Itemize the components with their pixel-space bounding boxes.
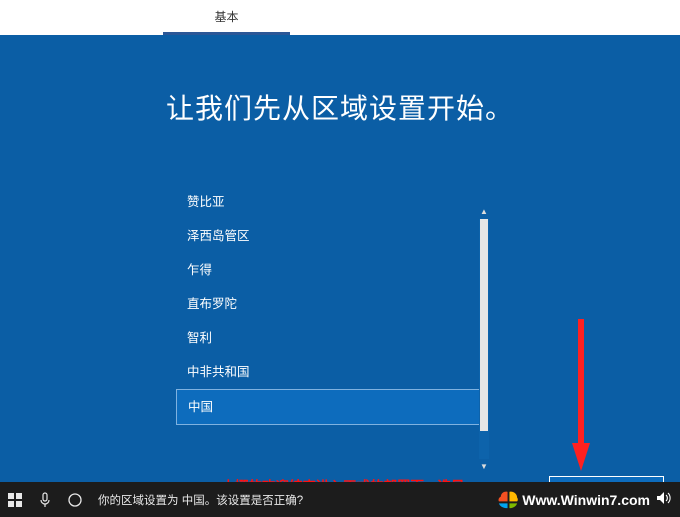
tab-basic-label: 基本 xyxy=(214,8,238,25)
windows-flag-logo-icon xyxy=(497,488,520,511)
cortana-prompt-text: 你的区域设置为 中国。该设置是否正确? xyxy=(98,492,303,508)
page-title: 让我们先从区域设置开始。 xyxy=(0,87,680,127)
taskbar: 你的区域设置为 中国。该设置是否正确? Www.Winwin7.com xyxy=(0,482,680,517)
region-list[interactable]: 赞比亚 泽西岛管区 乍得 直布罗陀 智利 中非共和国 中国 xyxy=(176,185,482,459)
list-item-selected[interactable]: 中国 xyxy=(176,389,482,425)
windows-start-icon[interactable] xyxy=(0,482,30,517)
oobe-pane: 让我们先从区域设置开始。 赞比亚 泽西岛管区 乍得 直布罗陀 智利 中非共和国 … xyxy=(0,35,680,482)
tab-basic[interactable]: 基本 xyxy=(163,0,290,35)
list-item[interactable]: 乍得 xyxy=(176,253,482,287)
volume-icon[interactable] xyxy=(656,491,671,508)
screenshot-root: 基本 让我们先从区域设置开始。 赞比亚 泽西岛管区 乍得 直布罗陀 智利 中非共… xyxy=(0,0,680,517)
region-list-scrollbar[interactable]: ▲ ▼ xyxy=(479,219,489,459)
scrollbar-thumb[interactable] xyxy=(480,219,488,431)
tab-bar: 基本 xyxy=(0,0,680,36)
scroll-up-icon[interactable]: ▲ xyxy=(479,206,489,217)
microphone-icon[interactable] xyxy=(30,482,60,517)
list-item[interactable]: 直布罗陀 xyxy=(176,287,482,321)
region-list-container: 赞比亚 泽西岛管区 乍得 直布罗陀 智利 中非共和国 中国 ▲ ▼ xyxy=(176,185,499,459)
list-item[interactable]: 赞比亚 xyxy=(176,185,482,219)
list-item[interactable]: 泽西岛管区 xyxy=(176,219,482,253)
scrollbar-track[interactable] xyxy=(479,219,489,459)
list-item[interactable]: 中非共和国 xyxy=(176,355,482,389)
cortana-circle-icon[interactable] xyxy=(60,482,90,517)
site-watermark: Www.Winwin7.com xyxy=(522,492,650,508)
taskbar-right: Www.Winwin7.com xyxy=(522,482,680,517)
scroll-down-icon[interactable]: ▼ xyxy=(479,461,489,472)
list-item[interactable]: 智利 xyxy=(176,321,482,355)
red-arrow-annotation-icon xyxy=(572,319,590,471)
